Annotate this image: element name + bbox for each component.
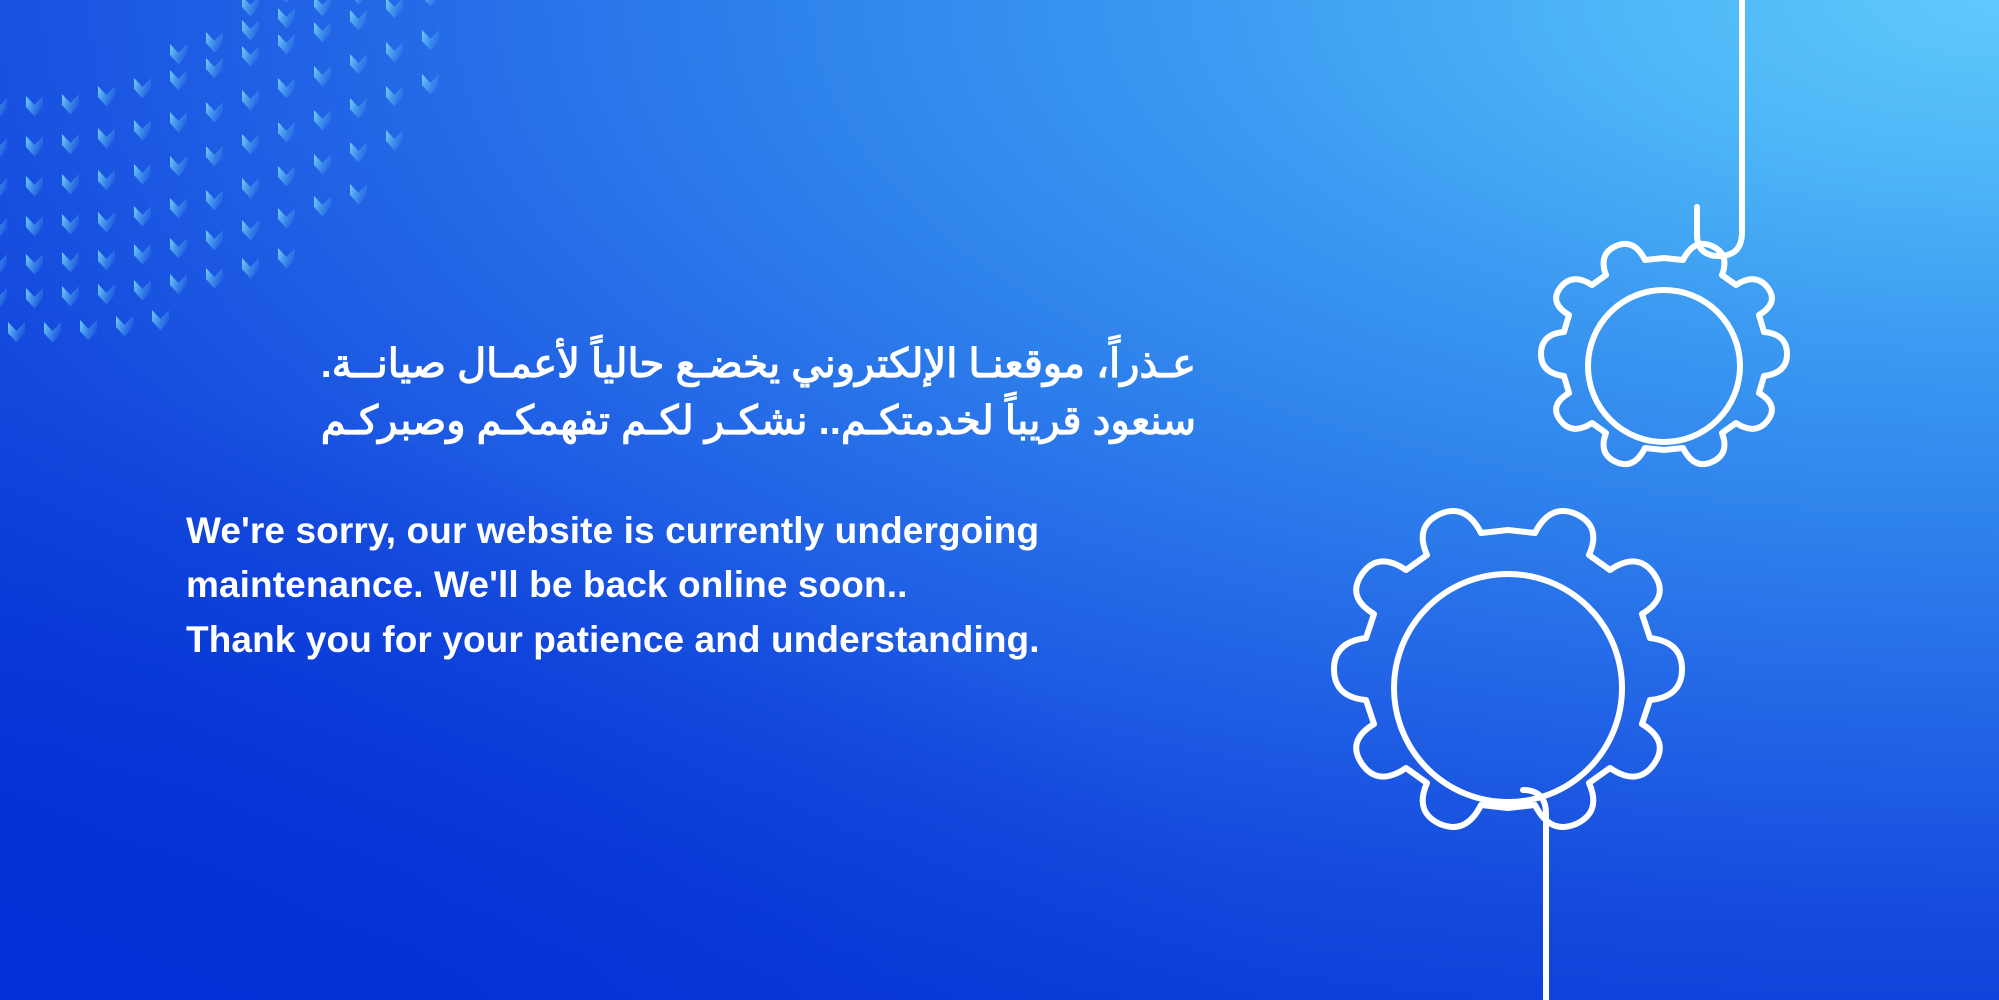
english-message: We're sorry, our website is currently un… xyxy=(186,504,1196,668)
maintenance-message: عـذراً، موقعنـا الإلكتروني يخضـع حالياً … xyxy=(186,336,1196,668)
large-gear-teeth xyxy=(1334,511,1682,827)
small-gear-hub xyxy=(1588,290,1740,442)
maintenance-page: عـذراً، موقعنـا الإلكتروني يخضـع حالياً … xyxy=(0,0,1999,1000)
large-gear-hub xyxy=(1394,574,1622,802)
bottom-connector-line xyxy=(1523,790,1546,1000)
arabic-line-1: عـذراً، موقعنـا الإلكتروني يخضـع حالياً … xyxy=(186,336,1196,393)
arabic-message: عـذراً، موقعنـا الإلكتروني يخضـع حالياً … xyxy=(186,336,1196,450)
english-line-2: maintenance. We'll be back online soon.. xyxy=(186,558,1196,613)
english-line-1: We're sorry, our website is currently un… xyxy=(186,504,1196,559)
small-gear-teeth xyxy=(1541,244,1787,464)
top-connector-line xyxy=(1697,0,1742,256)
arabic-line-2: سنعود قريباً لخدمتكـم.. نشكـر لكـم تفهمك… xyxy=(186,393,1196,450)
english-line-3: Thank you for your patience and understa… xyxy=(186,613,1196,668)
